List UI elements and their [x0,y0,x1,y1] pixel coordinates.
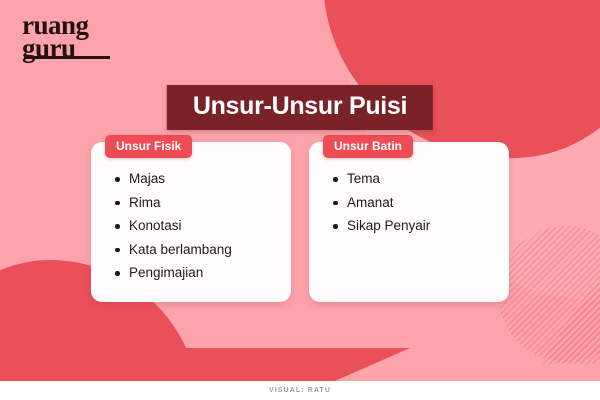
list-item: Sikap Penyair [333,219,499,233]
list-item: Majas [115,172,281,186]
page-title: Unsur-Unsur Puisi [193,92,407,121]
decorative-hatched-circle [498,226,600,362]
list-item: Konotasi [115,219,281,233]
decorative-hatched-triangle [540,274,600,364]
logo-line-2: guru [22,37,89,60]
decorative-blob-top-right-secondary [440,0,600,110]
list-item: Amanat [333,196,499,210]
card-unsur-fisik: Unsur Fisik Majas Rima Konotasi Kata ber… [91,142,291,302]
poster-canvas: ruang guru Unsur-Unsur Puisi Unsur Fisik… [0,0,600,400]
footer-bar: VISUAL: RATU [0,381,600,400]
decorative-bottom-band [0,348,410,382]
list-item: Tema [333,172,499,186]
ruangguru-logo: ruang guru [22,14,89,60]
cards-container: Unsur Fisik Majas Rima Konotasi Kata ber… [91,142,509,302]
list-item: Pengimajian [115,266,281,280]
list-item: Rima [115,196,281,210]
badge-unsur-fisik: Unsur Fisik [105,135,192,158]
card-unsur-batin: Unsur Batin Tema Amanat Sikap Penyair [309,142,509,302]
list-item: Kata berlambang [115,243,281,257]
badge-unsur-batin: Unsur Batin [323,135,413,158]
title-banner: Unsur-Unsur Puisi [167,85,433,130]
list-unsur-batin: Tema Amanat Sikap Penyair [319,172,499,233]
visual-credit: VISUAL: RATU [269,387,331,394]
list-unsur-fisik: Majas Rima Konotasi Kata berlambang Peng… [101,172,281,280]
